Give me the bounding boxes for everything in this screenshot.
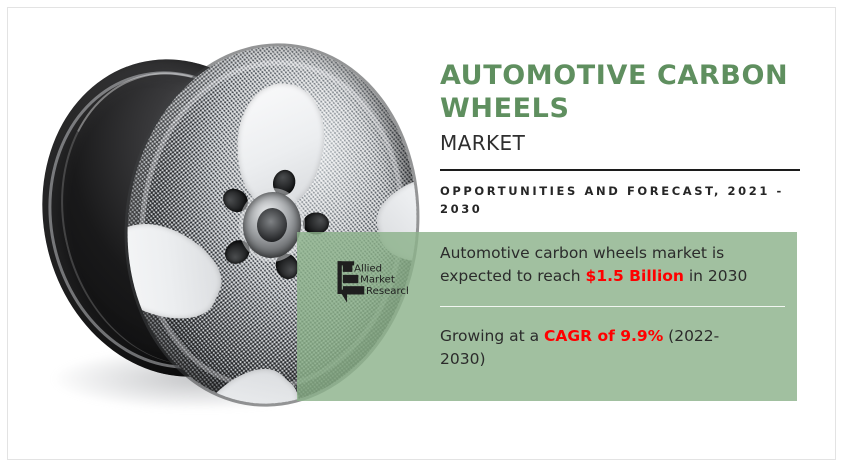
stats-panel: Automotive carbon wheels market is expec… xyxy=(297,232,797,401)
allied-market-research-logo: Allied Market Research xyxy=(336,260,408,304)
logo-line-1: Allied xyxy=(354,263,382,274)
stat-market-size-trail: in 2030 xyxy=(684,267,747,285)
panel-divider xyxy=(440,306,785,307)
header-divider xyxy=(440,169,800,171)
logo-line-3: Research xyxy=(366,286,408,297)
stat-block-cagr: Growing at a CAGR of 9.9% (2022-2030) xyxy=(440,325,760,371)
speech-bubble-icon: Allied Market Research xyxy=(336,260,408,304)
stat-cagr-lead: Growing at a xyxy=(440,327,544,345)
stat-cagr-value: CAGR of 9.9% xyxy=(544,327,663,345)
logo-line-2: Market xyxy=(360,275,395,286)
stat-block-market-size: Automotive carbon wheels market is expec… xyxy=(440,242,774,288)
stat-market-size-value: $1.5 Billion xyxy=(586,267,684,285)
stat-cagr: Growing at a CAGR of 9.9% (2022-2030) xyxy=(440,325,760,371)
infographic-banner: AUTOMOTIVE CARBON WHEELS MARKET OPPORTUN… xyxy=(0,0,847,470)
header-block: AUTOMOTIVE CARBON WHEELS MARKET xyxy=(440,60,800,155)
forecast-label: OPPORTUNITIES AND FORECAST, 2021 - 2030 xyxy=(440,183,805,219)
stat-market-size: Automotive carbon wheels market is expec… xyxy=(440,242,774,288)
page-subtitle: MARKET xyxy=(440,131,800,155)
page-title: AUTOMOTIVE CARBON WHEELS xyxy=(440,60,800,126)
